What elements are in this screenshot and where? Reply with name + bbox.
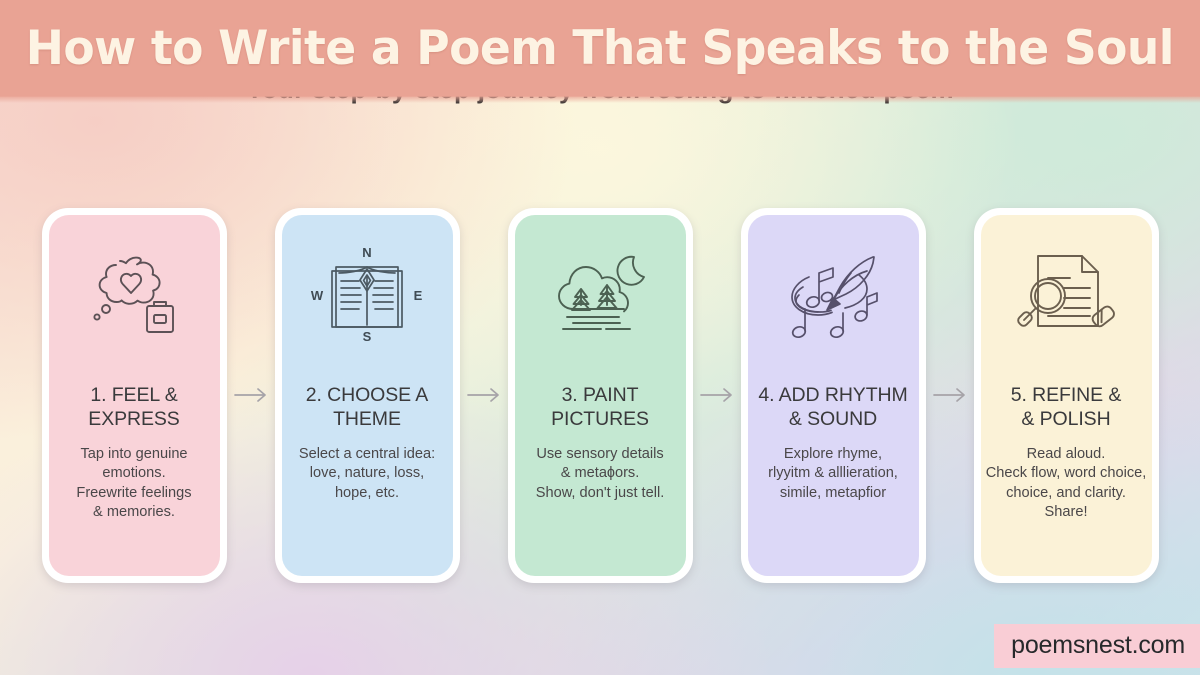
arrow-connector-1 — [227, 387, 275, 403]
step-card-1-heading: 1. FEEL & EXPRESS — [88, 383, 179, 432]
step-card-3-body: Use sensory details & metaɸors. Show, do… — [536, 445, 665, 504]
step-card-2[interactable]: N S W E 2. CHOOSE A — [275, 208, 460, 583]
step-card-3-body-line3: Show, don't just tell. — [536, 485, 665, 501]
step-card-2-heading-line1: 2. CHOOSE A — [306, 384, 428, 406]
step-card-2-body: Select a central idea: love, nature, los… — [299, 445, 435, 504]
step-card-5-heading-line2: & POLISH — [1021, 408, 1110, 430]
step-card-5-heading-line1: 5. REFINE & — [1011, 384, 1122, 406]
step-card-5-body-line1: Read aloud. — [1027, 446, 1106, 462]
step-card-1-heading-line1: 1. FEEL & — [90, 384, 177, 406]
step-card-3-body-line1: Use sensory details — [536, 446, 663, 462]
step-card-3-heading-line2: PICTURES — [551, 408, 649, 430]
step-card-3-body-line2: & metaɸors. — [561, 465, 640, 481]
page-title: How to Write a Poem That Speaks to the S… — [26, 21, 1174, 76]
svg-text:E: E — [414, 288, 423, 303]
step-card-4-body-line2: rlyyitm & alllieration, — [768, 465, 898, 481]
arrow-connector-4 — [926, 387, 974, 403]
cloud-moon-trees-icon — [523, 229, 678, 361]
step-card-2-body-line3: hope, etc. — [335, 485, 399, 501]
step-card-4[interactable]: 4. ADD RHYTHM & SOUND Explore rhyme, rly… — [741, 208, 926, 583]
step-card-1[interactable]: 1. FEEL & EXPRESS Tap into genuine emoti… — [42, 208, 227, 583]
step-card-1-body-line4: & memories. — [93, 504, 175, 520]
step-card-5-body-line3: choice, and clarity. — [1006, 485, 1126, 501]
step-card-3[interactable]: 3. PAINT PICTURES Use sensory details & … — [508, 208, 693, 583]
step-card-1-body-line1: Tap into genuine — [80, 446, 187, 462]
step-card-5[interactable]: 5. REFINE & & POLISH Read aloud. Check f… — [974, 208, 1159, 583]
step-card-4-heading-line1: 4. ADD RHYTHM — [758, 384, 907, 406]
step-card-5-body-line2: Check flow, word choice, — [986, 465, 1147, 481]
svg-text:W: W — [311, 288, 324, 303]
step-card-5-body: Read aloud. Check flow, word choice, cho… — [968, 445, 1164, 523]
open-book-compass-icon: N S W E — [290, 229, 445, 361]
step-card-1-heading-line2: EXPRESS — [88, 408, 179, 430]
step-card-3-heading-line1: 3. PAINT — [562, 384, 639, 406]
watermark-text: poemsnest.com — [1011, 631, 1185, 659]
step-card-4-heading-line2: & SOUND — [789, 408, 877, 430]
step-card-2-body-line2: love, nature, loss, — [310, 465, 424, 481]
step-card-2-body-line1: Select a central idea: — [299, 446, 435, 462]
watermark: poemsnest.com — [994, 624, 1200, 668]
infographic-poster: Your step-by-step journey from feeling t… — [0, 0, 1200, 675]
step-card-4-body-line1: Explore rhyme, — [784, 446, 882, 462]
document-magnifier-eraser-icon — [989, 229, 1144, 361]
step-card-4-body: Explore rhyme, rlyyitm & alllieration, s… — [768, 445, 898, 504]
arrow-connector-2 — [460, 387, 508, 403]
arrow-connector-3 — [693, 387, 741, 403]
step-card-5-heading: 5. REFINE & & POLISH — [1011, 383, 1122, 432]
step-card-2-heading: 2. CHOOSE A THEME — [306, 383, 428, 432]
step-card-5-body-line4: Share! — [1045, 504, 1088, 520]
step-card-1-body-line3: Freewrite feelings — [76, 485, 191, 501]
step-card-1-body: Tap into genuine emotions. Freewrite fee… — [76, 445, 191, 523]
steps-flow: 1. FEEL & EXPRESS Tap into genuine emoti… — [0, 205, 1200, 585]
svg-text:N: N — [362, 245, 371, 260]
quill-music-notes-icon — [756, 229, 911, 361]
step-card-4-body-line3: simile, metapfior — [780, 485, 886, 501]
step-card-3-heading: 3. PAINT PICTURES — [551, 383, 649, 432]
step-card-2-heading-line2: THEME — [333, 408, 401, 430]
step-card-1-body-line2: emotions. — [102, 465, 165, 481]
thought-bubble-heart-inkwell-icon — [57, 229, 212, 361]
svg-text:S: S — [363, 329, 372, 344]
title-band: How to Write a Poem That Speaks to the S… — [0, 0, 1200, 96]
step-card-4-heading: 4. ADD RHYTHM & SOUND — [758, 383, 907, 432]
